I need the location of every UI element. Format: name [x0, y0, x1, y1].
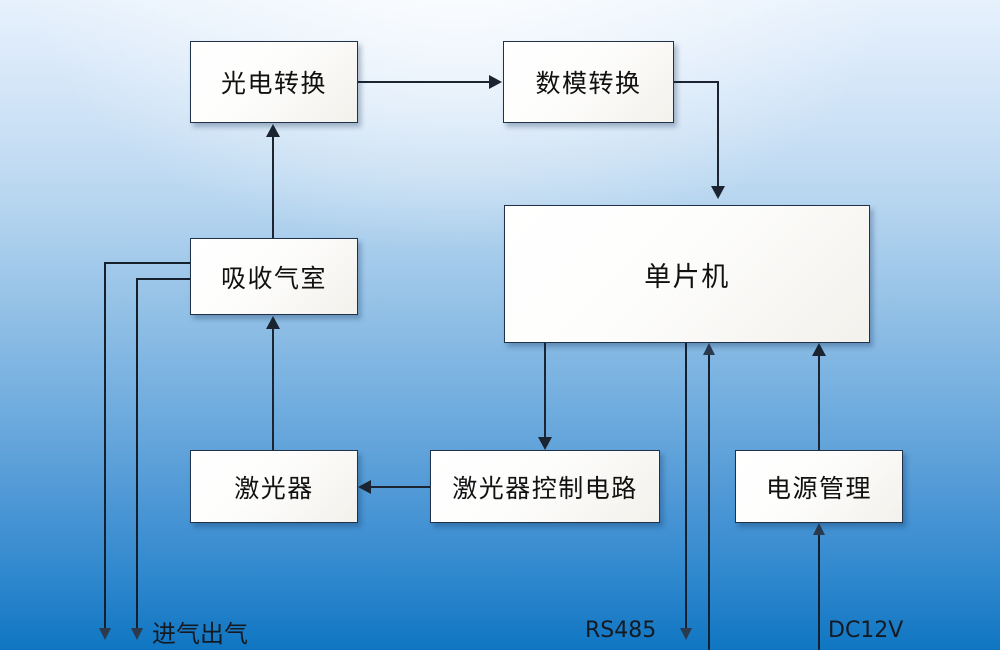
diagram-canvas: 光电转换 数模转换 吸收气室 单片机 激光器 激光器控制电路 电源管理 进气出气… — [0, 0, 1000, 650]
edge-gascell-gasio-2-v — [136, 278, 138, 630]
edge-mcu-to-rs485-arrowhead — [680, 628, 692, 640]
edge-photoelectric-to-adc-line — [358, 81, 490, 83]
edge-adc-to-mcu-v — [717, 81, 719, 186]
edge-adc-to-mcu-arrowhead — [711, 186, 725, 199]
node-photoelectric-conversion[interactable]: 光电转换 — [190, 41, 358, 123]
edge-power-to-mcu-line — [818, 355, 820, 450]
edge-mcu-to-laserdriver-arrowhead — [538, 437, 552, 450]
edge-gascell-gasio-1-v — [104, 262, 106, 630]
edge-power-to-mcu-arrowhead — [812, 343, 826, 356]
node-laser[interactable]: 激光器 — [190, 450, 358, 523]
node-power-management-label: 电源管理 — [766, 469, 872, 505]
edge-gascell-gasio-1-arrowhead — [99, 628, 111, 640]
edge-dc12v-to-power-line — [818, 535, 820, 650]
edge-mcu-to-laserdriver-line — [544, 343, 546, 437]
edge-laser-to-gascell-arrowhead — [266, 316, 280, 329]
edge-gascell-gasio-2-arrowhead — [131, 628, 143, 640]
edge-mcu-to-rs485-line — [685, 343, 687, 630]
label-gas-inlet-outlet: 进气出气 — [152, 614, 248, 649]
node-power-management[interactable]: 电源管理 — [735, 450, 903, 523]
node-mcu-label: 单片机 — [644, 255, 730, 294]
label-rs485: RS485 — [585, 618, 656, 643]
edge-laserdriver-to-laser-arrowhead — [358, 480, 371, 494]
node-laser-label: 激光器 — [234, 469, 314, 505]
edge-gascell-to-photoelectric-arrowhead — [266, 124, 280, 137]
edge-laser-to-gascell-line — [272, 328, 274, 450]
node-absorption-gas-cell[interactable]: 吸收气室 — [190, 238, 358, 315]
node-digital-analog-conversion-label: 数模转换 — [535, 64, 641, 100]
edge-rs485-to-mcu-line — [708, 355, 710, 650]
edge-laserdriver-to-laser-line — [371, 486, 431, 488]
node-mcu[interactable]: 单片机 — [504, 205, 870, 343]
node-laser-control-circuit[interactable]: 激光器控制电路 — [430, 450, 660, 523]
edge-adc-to-mcu-h — [674, 81, 719, 83]
edge-gascell-gasio-1-h — [104, 262, 192, 264]
node-absorption-gas-cell-label: 吸收气室 — [221, 259, 327, 295]
node-laser-control-circuit-label: 激光器控制电路 — [452, 469, 638, 505]
node-digital-analog-conversion[interactable]: 数模转换 — [503, 41, 674, 123]
edge-gascell-gasio-2-h — [136, 278, 192, 280]
node-photoelectric-conversion-label: 光电转换 — [221, 64, 327, 100]
edge-dc12v-to-power-arrowhead — [813, 523, 825, 535]
edge-rs485-to-mcu-arrowhead — [703, 343, 715, 355]
label-dc12v: DC12V — [828, 618, 903, 643]
edge-photoelectric-to-adc-arrowhead — [489, 75, 502, 89]
edge-gascell-to-photoelectric-line — [272, 136, 274, 238]
